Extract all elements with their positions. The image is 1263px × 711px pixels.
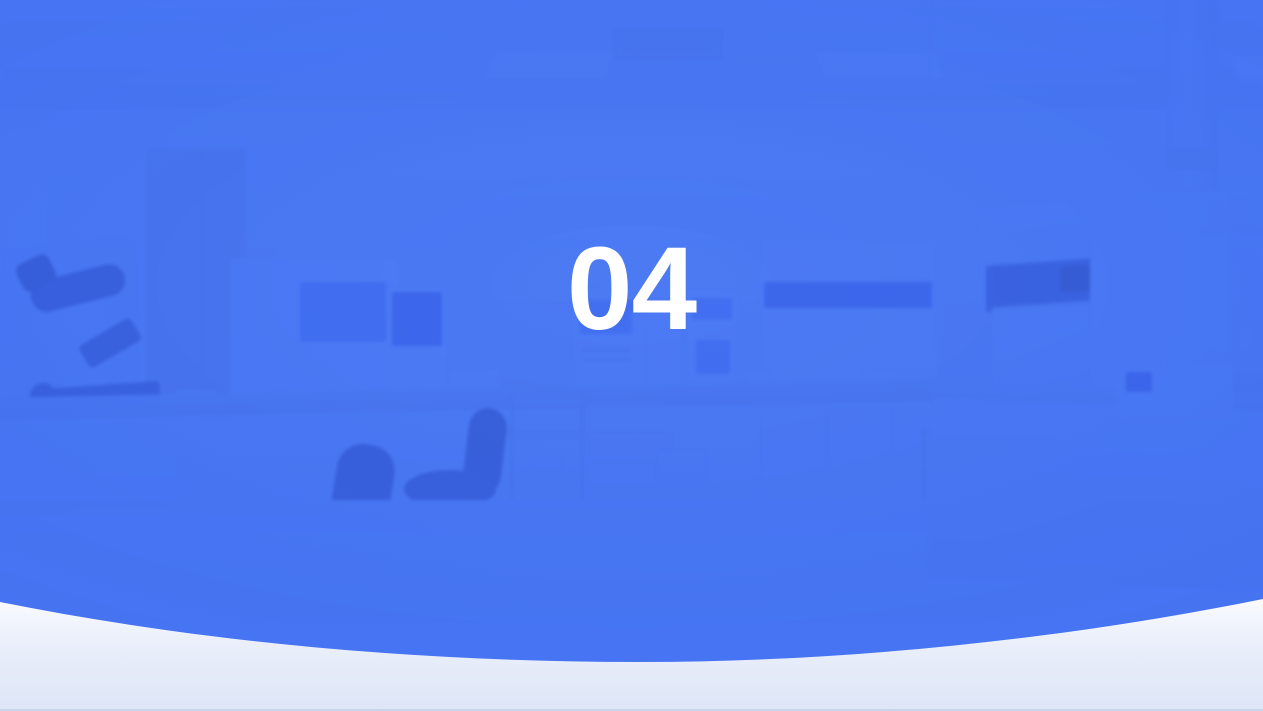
section-divider-slide: 04 xyxy=(0,0,1263,711)
footer-curve-path xyxy=(0,599,1263,711)
curved-wave-footer xyxy=(0,596,1263,711)
section-number: 04 xyxy=(567,230,696,348)
